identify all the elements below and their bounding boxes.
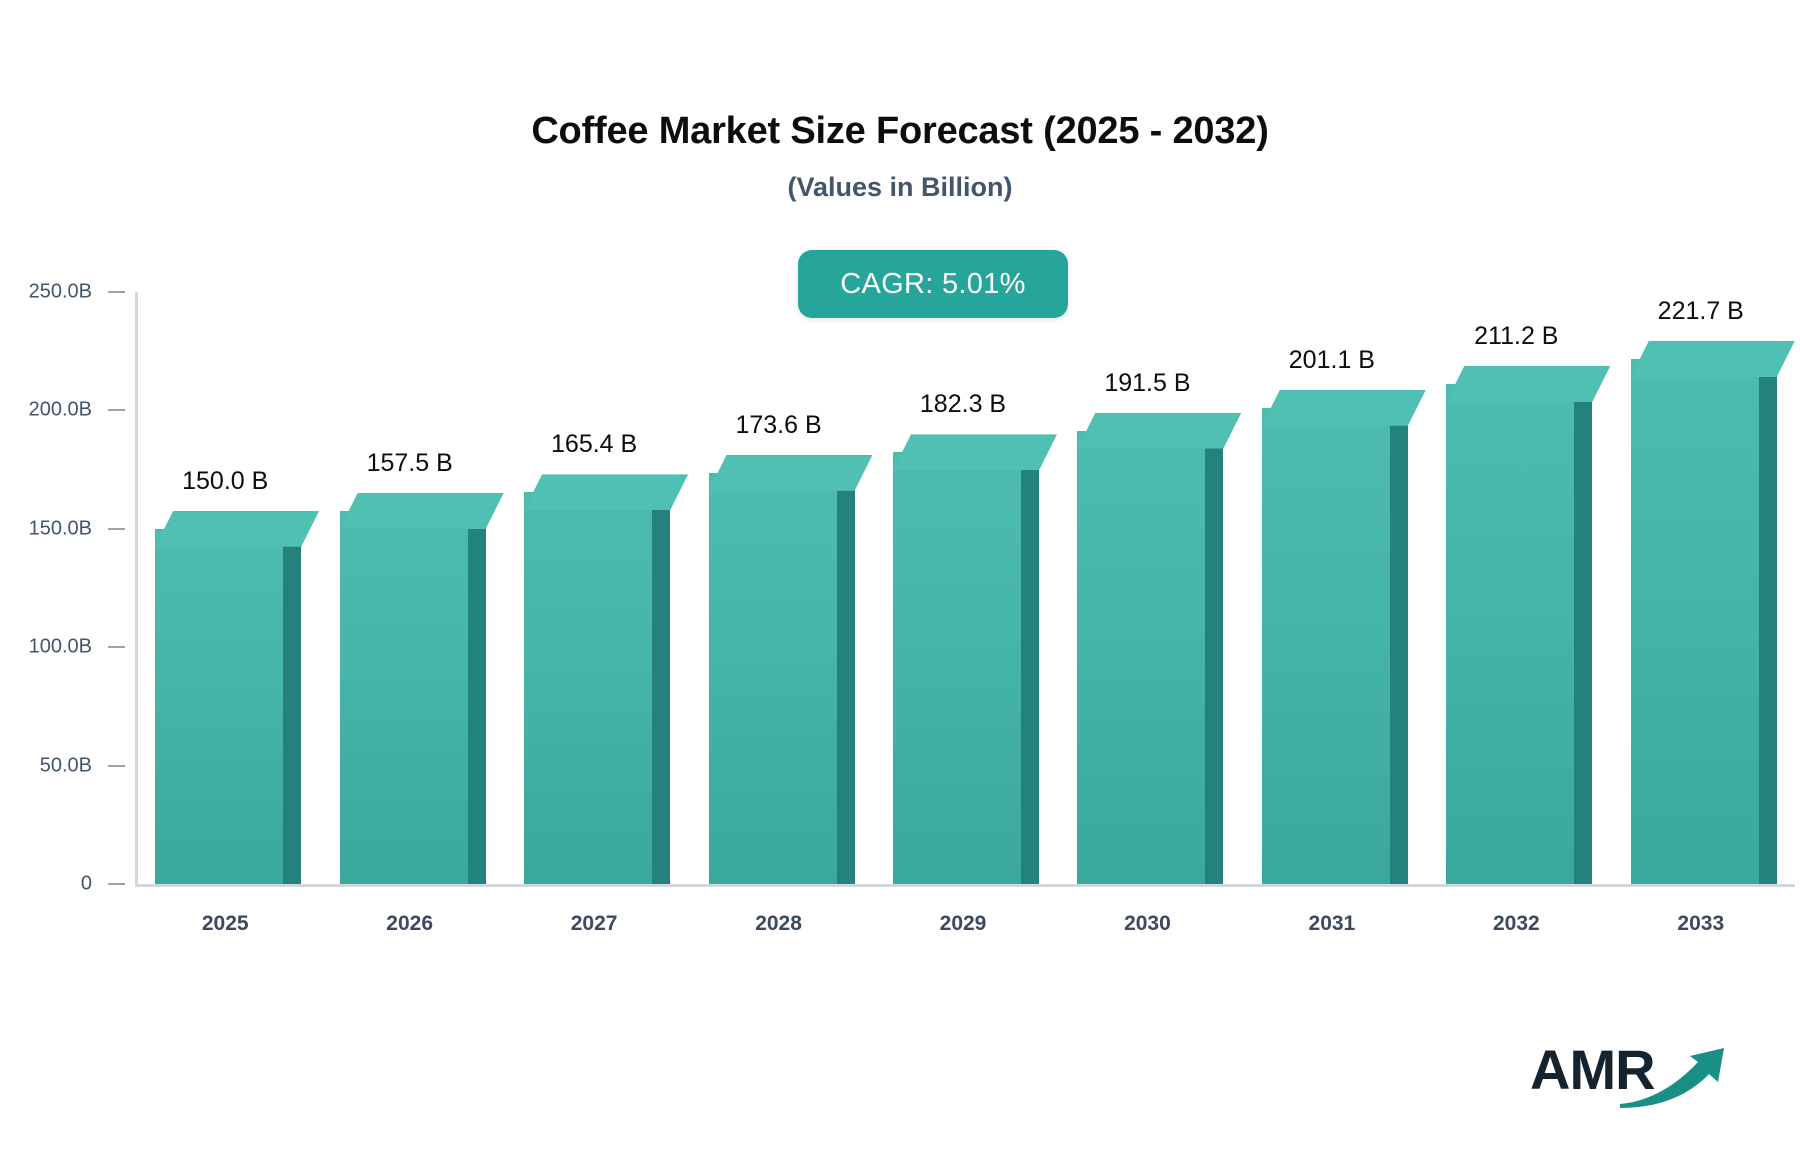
- bar-front-face: [893, 452, 1021, 884]
- bar-side-face: [1759, 359, 1777, 884]
- bar-2028[interactable]: [709, 455, 855, 884]
- x-axis-tick-label: 2027: [571, 912, 618, 936]
- x-axis-tick-label: 2029: [940, 912, 987, 936]
- bar-side-face: [1205, 431, 1223, 884]
- bar-side-face: [1574, 384, 1592, 884]
- bar-side-face: [652, 492, 670, 884]
- bar-top-face: [1446, 366, 1610, 402]
- x-axis-tick-label: 2030: [1124, 912, 1171, 936]
- y-axis-tick-mark: [108, 646, 125, 648]
- bar-side-face: [1021, 452, 1039, 884]
- y-axis-tick-label: 150.0B: [0, 517, 92, 540]
- cagr-badge: CAGR: 5.01%: [798, 250, 1068, 318]
- bar-2029[interactable]: [893, 434, 1039, 884]
- x-axis-tick-label: 2032: [1493, 912, 1540, 936]
- bar-side-face: [468, 511, 486, 884]
- y-axis-tick-mark: [108, 291, 125, 293]
- bar-2031[interactable]: [1262, 390, 1408, 884]
- bar-top-face: [155, 511, 319, 547]
- y-axis-tick-label: 250.0B: [0, 281, 92, 304]
- y-axis-tick-label: 200.0B: [0, 399, 92, 422]
- x-axis-tick-label: 2031: [1309, 912, 1356, 936]
- y-axis-tick-label: 100.0B: [0, 636, 92, 659]
- x-axis-line: [135, 884, 1795, 887]
- bar-2027[interactable]: [524, 474, 670, 884]
- bar-value-label: 221.7 B: [1581, 297, 1800, 326]
- bar-side-face: [1390, 408, 1408, 884]
- bar-2025[interactable]: [155, 511, 301, 884]
- y-axis-tick-mark: [108, 409, 125, 411]
- bar-front-face: [709, 473, 837, 884]
- bar-2033[interactable]: [1631, 341, 1777, 884]
- bar-front-face: [1446, 384, 1574, 884]
- bar-2026[interactable]: [340, 493, 486, 884]
- bar-chart-plot-area: 250.0B200.0B150.0B100.0B50.0B0 150.0 B15…: [0, 0, 1800, 1156]
- bar-side-face: [283, 529, 301, 884]
- bar-top-face: [1631, 341, 1795, 377]
- bar-2030[interactable]: [1077, 413, 1223, 884]
- bar-top-face: [709, 455, 873, 491]
- bar-top-face: [893, 434, 1057, 470]
- bar-top-face: [524, 474, 688, 510]
- y-axis-line: [135, 292, 138, 886]
- bar-value-label: 211.2 B: [1396, 322, 1636, 351]
- y-axis-tick-label: 0: [0, 873, 92, 896]
- amr-logo: AMR: [1530, 1040, 1730, 1118]
- bar-top-face: [340, 493, 504, 529]
- y-axis-tick-label: 50.0B: [0, 754, 92, 777]
- y-axis-tick-mark: [108, 528, 125, 530]
- x-axis-tick-label: 2033: [1677, 912, 1724, 936]
- bar-front-face: [1262, 408, 1390, 884]
- bar-front-face: [155, 529, 283, 884]
- bar-2032[interactable]: [1446, 366, 1592, 884]
- cagr-badge-label: CAGR: 5.01%: [840, 268, 1025, 301]
- bar-side-face: [837, 473, 855, 884]
- bar-top-face: [1262, 390, 1426, 426]
- bar-top-face: [1077, 413, 1241, 449]
- y-axis-tick-mark: [108, 765, 125, 767]
- bar-front-face: [1631, 359, 1759, 884]
- x-axis-tick-label: 2028: [755, 912, 802, 936]
- x-axis-tick-label: 2025: [202, 912, 249, 936]
- bar-front-face: [1077, 431, 1205, 884]
- bar-front-face: [340, 511, 468, 884]
- bar-front-face: [524, 492, 652, 884]
- growth-arrow-icon: [1618, 1046, 1728, 1108]
- x-axis-tick-label: 2026: [386, 912, 433, 936]
- y-axis-tick-mark: [108, 883, 125, 885]
